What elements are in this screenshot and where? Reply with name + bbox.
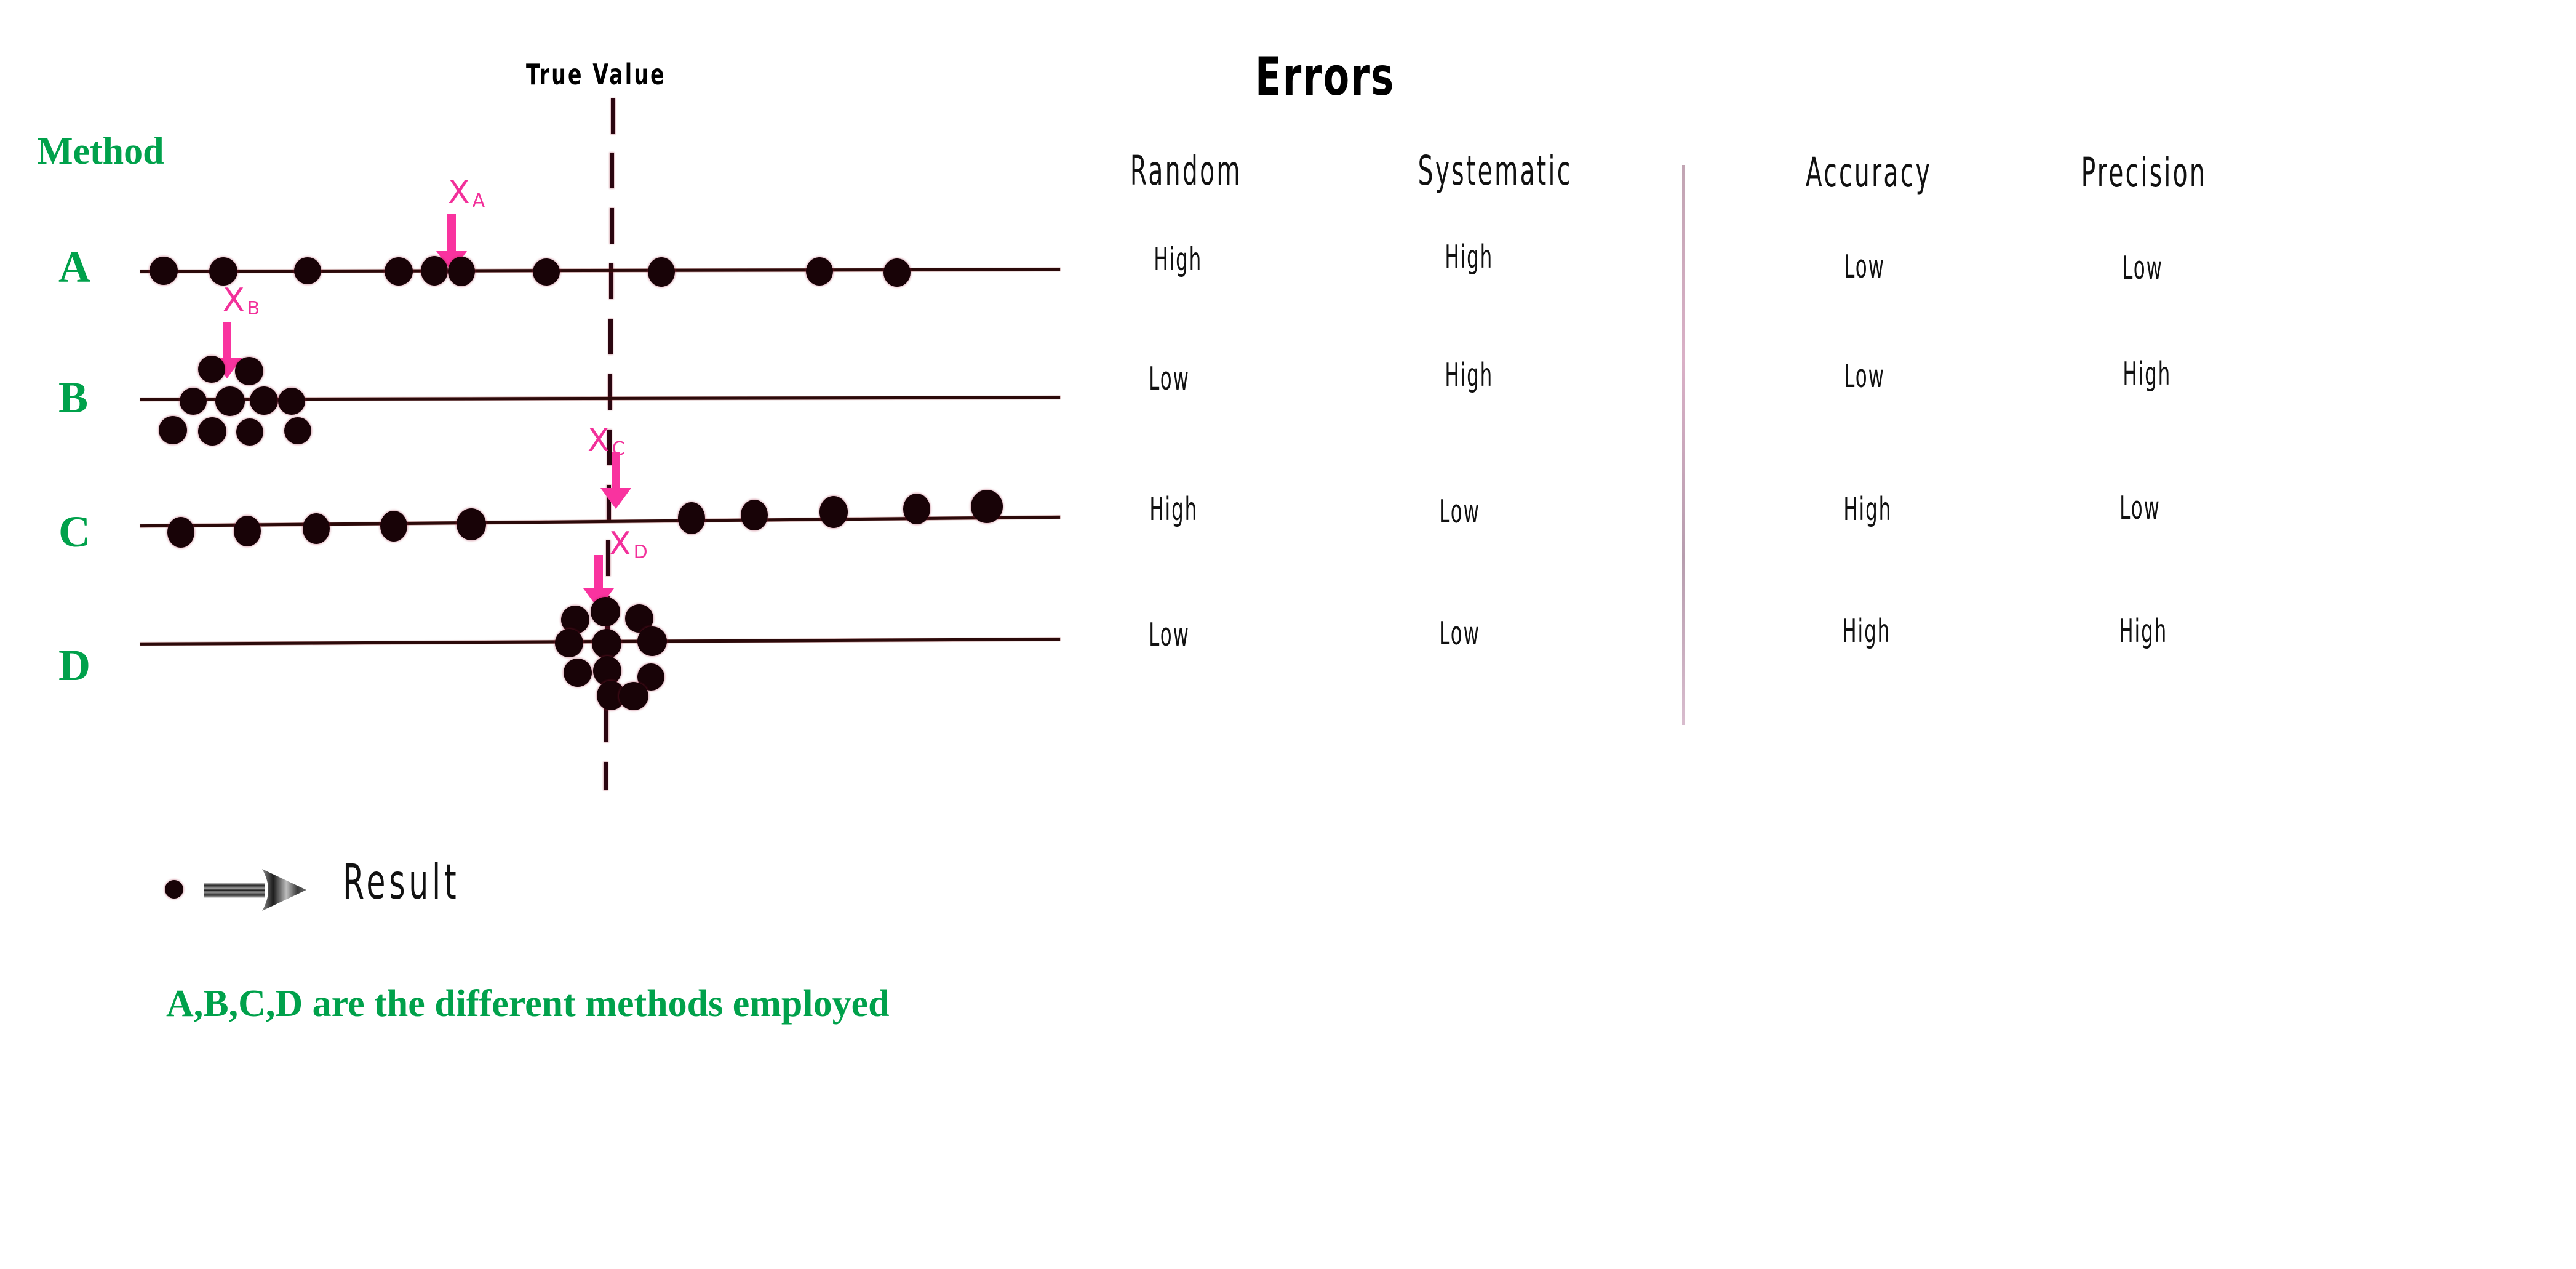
annotation-x-d-symbol: X [609,526,631,562]
errors-table-title: Errors [1255,50,1395,103]
column-header-random: Random [1130,151,1242,191]
errors-table-divider [1682,165,1685,725]
cell-d-random: Low [1149,619,1190,651]
true-value-label: True Value [526,60,666,89]
method-row-label-d: D [58,643,90,687]
cell-b-random: Low [1149,363,1190,395]
cell-b-systematic: High [1445,359,1493,391]
method-axis-label: Method [37,132,164,170]
cell-d-systematic: Low [1439,618,1480,650]
cell-b-precision: High [2123,358,2171,390]
cell-c-accuracy: High [1843,494,1892,526]
annotation-x-c-symbol: X [588,422,610,459]
cell-c-random: High [1149,494,1198,526]
arrow-d-shaft [594,555,603,590]
arrow-a-shaft [447,214,456,252]
annotation-x-a-symbol: X [448,174,470,211]
cell-d-precision: High [2119,615,2167,647]
diagram-caption: A,B,C,D are the different methods employ… [166,985,890,1023]
method-line-a [140,268,1060,273]
legend-result-label: Result [343,859,460,907]
annotation-x-b-subscript: B [245,298,260,319]
cell-c-systematic: Low [1439,496,1480,528]
cell-a-accuracy: Low [1844,251,1885,283]
arrow-c-shaft [612,452,620,490]
annotation-x-d-subscript: D [631,542,648,563]
column-header-accuracy: Accuracy [1806,153,1932,193]
cell-d-accuracy: High [1842,615,1891,647]
legend-right-arrow-icon [203,867,308,913]
method-row-label-a: A [58,245,90,289]
column-header-precision: Precision [2081,153,2207,193]
arrow-c-head [600,488,631,509]
arrow-b-shaft [223,322,231,359]
annotation-x-a-subscript: A [470,190,485,212]
method-row-label-b: B [58,375,88,420]
cell-a-precision: Low [2122,252,2163,284]
cell-b-accuracy: Low [1844,361,1885,393]
cell-c-precision: Low [2119,492,2161,524]
cell-a-random: High [1154,244,1202,276]
legend-result-marker-icon [165,880,183,899]
cell-a-systematic: High [1445,241,1493,273]
column-header-systematic: Systematic [1418,151,1573,191]
method-row-label-c: C [58,510,90,554]
annotation-x-b-symbol: X [223,282,245,319]
